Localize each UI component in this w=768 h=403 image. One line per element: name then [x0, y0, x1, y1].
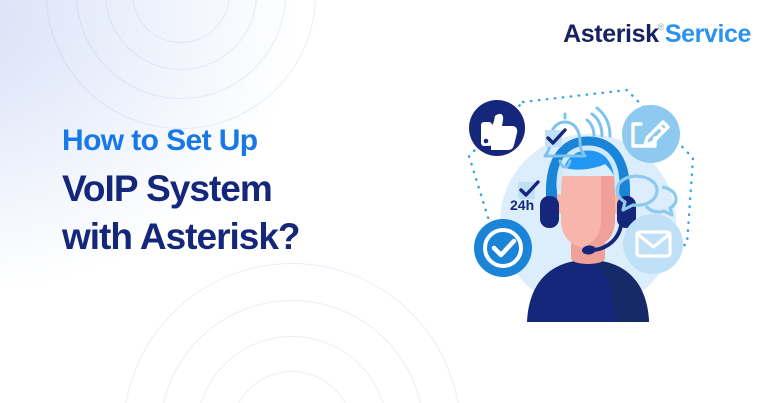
headline-eyebrow: How to Set Up [62, 126, 300, 157]
brand-logo-secondary: Service [665, 20, 751, 48]
thumbs-up-icon [469, 100, 525, 156]
customer-support-agent-illustration: 24h [455, 72, 715, 322]
registered-trademark-icon: ® [658, 22, 664, 32]
headline-line-1: VoIP System [62, 165, 300, 213]
headline-block: How to Set Up VoIP System with Asterisk? [62, 126, 300, 261]
brand-logo-primary: Asterisk [563, 20, 658, 48]
banner-canvas: Asterisk®Service How to Set Up VoIP Syst… [0, 0, 768, 403]
headline-line-2: with Asterisk? [62, 213, 300, 261]
edit-pencil-icon [622, 105, 680, 163]
headset-earcup-left [540, 196, 559, 228]
check-circle-icon [474, 219, 532, 277]
envelope-icon [623, 214, 683, 274]
hours-badge-label: 24h [510, 197, 534, 213]
brand-logo[interactable]: Asterisk®Service [563, 22, 751, 47]
checkbox-checked-icon [545, 130, 565, 147]
